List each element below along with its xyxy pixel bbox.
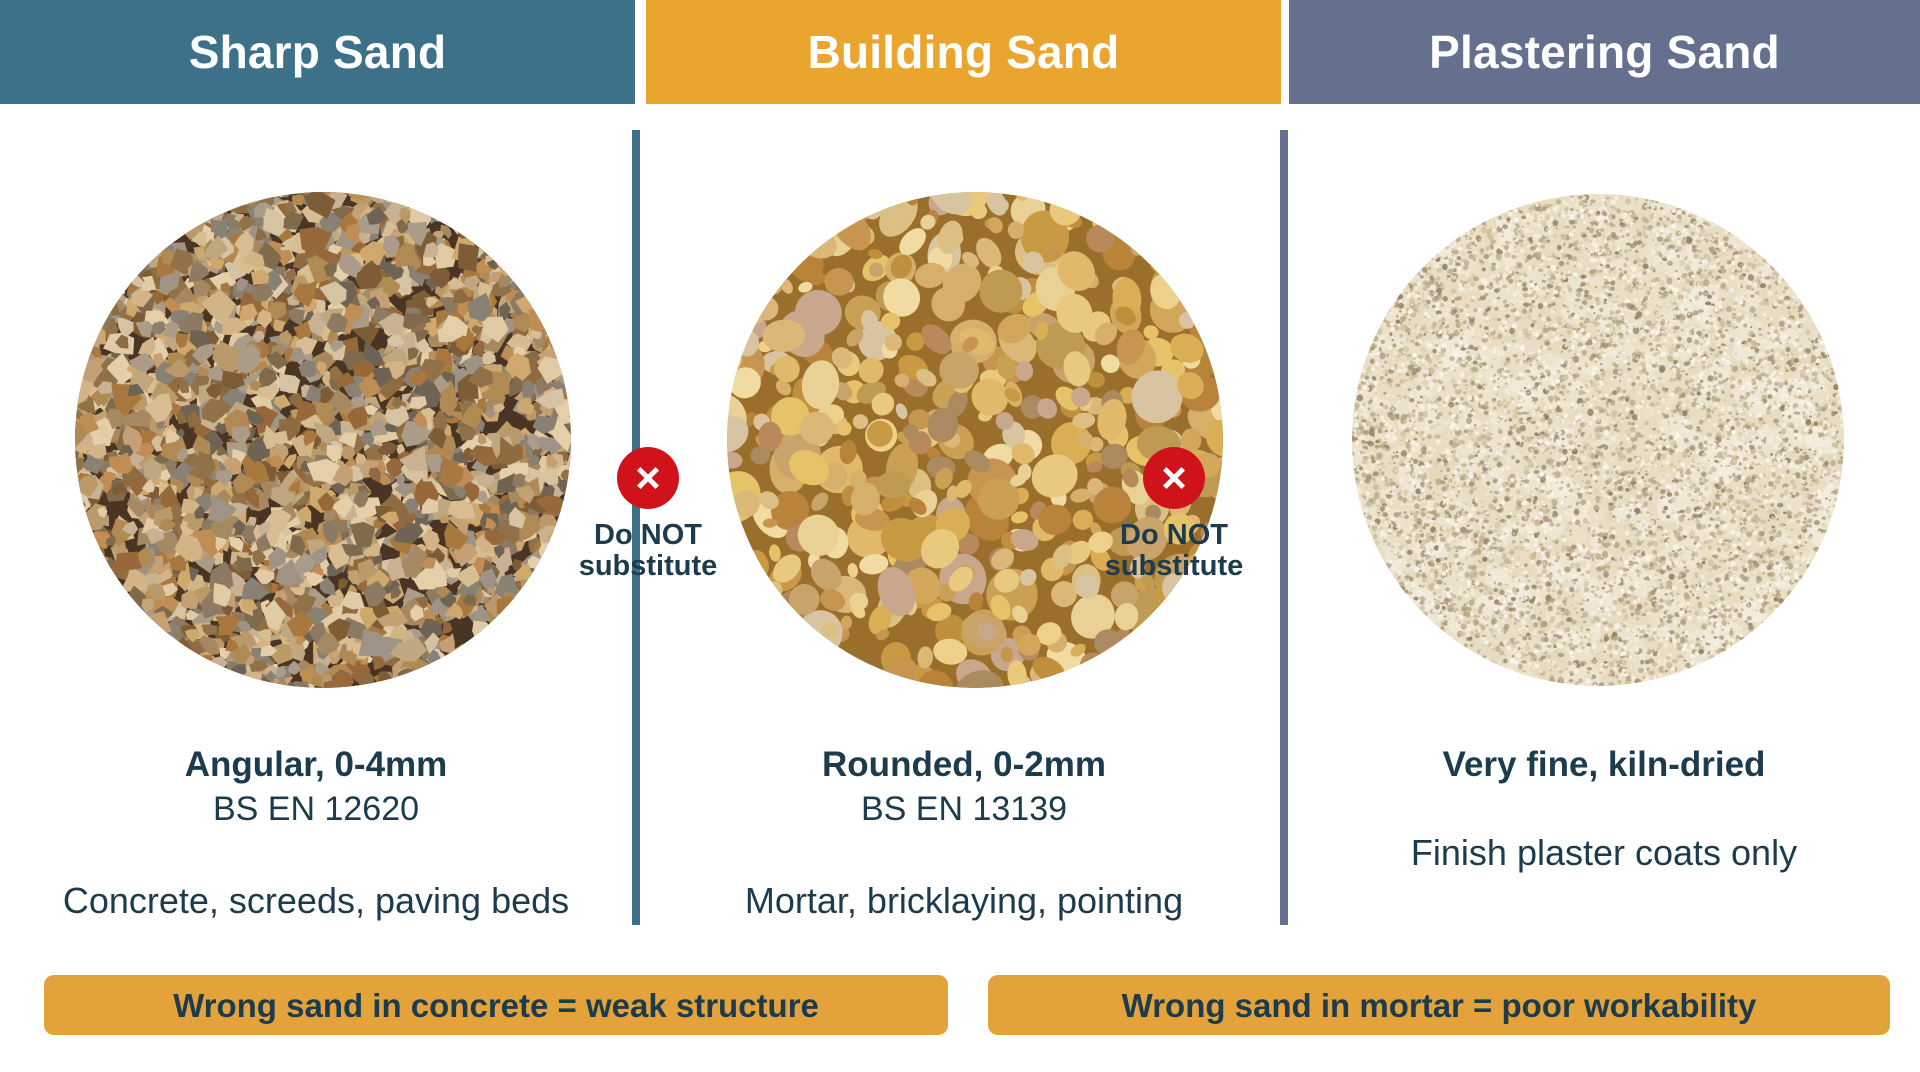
warning-banner-label: Wrong sand in concrete = weak structure [173, 989, 819, 1022]
uses-label: Concrete, screeds, paving beds [0, 879, 632, 922]
uses-label: Finish plaster coats only [1288, 831, 1920, 874]
warning-banner-concrete: Wrong sand in concrete = weak structure [44, 975, 948, 1035]
warning-banner-label: Wrong sand in mortar = poor workability [1122, 989, 1757, 1022]
spec-label: Angular, 0-4mm [0, 744, 632, 785]
do-not-substitute-marker-1: Do NOT substitute [553, 447, 743, 582]
angular-sharp-sand-texture [75, 192, 571, 688]
column-details-building-sand: Rounded, 0-2mm BS EN 13139 Mortar, brick… [648, 744, 1280, 922]
red-x-circle-icon [1143, 447, 1205, 509]
do-not-substitute-marker-2: Do NOT substitute [1079, 447, 1269, 582]
column-header-label: Plastering Sand [1429, 29, 1780, 75]
column-details-sharp-sand: Angular, 0-4mm BS EN 12620 Concrete, scr… [0, 744, 632, 922]
spec-label: Very fine, kiln-dried [1288, 744, 1920, 785]
column-header-label: Building Sand [808, 29, 1120, 75]
fine-plastering-sand-texture [1352, 194, 1844, 686]
warning-banner-mortar: Wrong sand in mortar = poor workability [988, 975, 1890, 1035]
do-not-substitute-label: Do NOT substitute [1105, 520, 1244, 582]
column-divider-right [1280, 130, 1288, 925]
column-header-label: Sharp Sand [189, 29, 447, 75]
column-header-building-sand: Building Sand [646, 0, 1281, 104]
column-details-plastering-sand: Very fine, kiln-dried Finish plaster coa… [1288, 744, 1920, 874]
standard-label: BS EN 12620 [0, 789, 632, 830]
uses-label: Mortar, bricklaying, pointing [648, 879, 1280, 922]
column-header-plastering-sand: Plastering Sand [1289, 0, 1920, 104]
spec-label: Rounded, 0-2mm [648, 744, 1280, 785]
do-not-substitute-label: Do NOT substitute [579, 520, 718, 582]
red-x-circle-icon [617, 447, 679, 509]
rounded-building-sand-texture [727, 192, 1223, 688]
column-header-sharp-sand: Sharp Sand [0, 0, 635, 104]
infographic-page: Sharp Sand Building Sand Plastering Sand [0, 0, 1920, 1072]
standard-label: BS EN 13139 [648, 789, 1280, 830]
